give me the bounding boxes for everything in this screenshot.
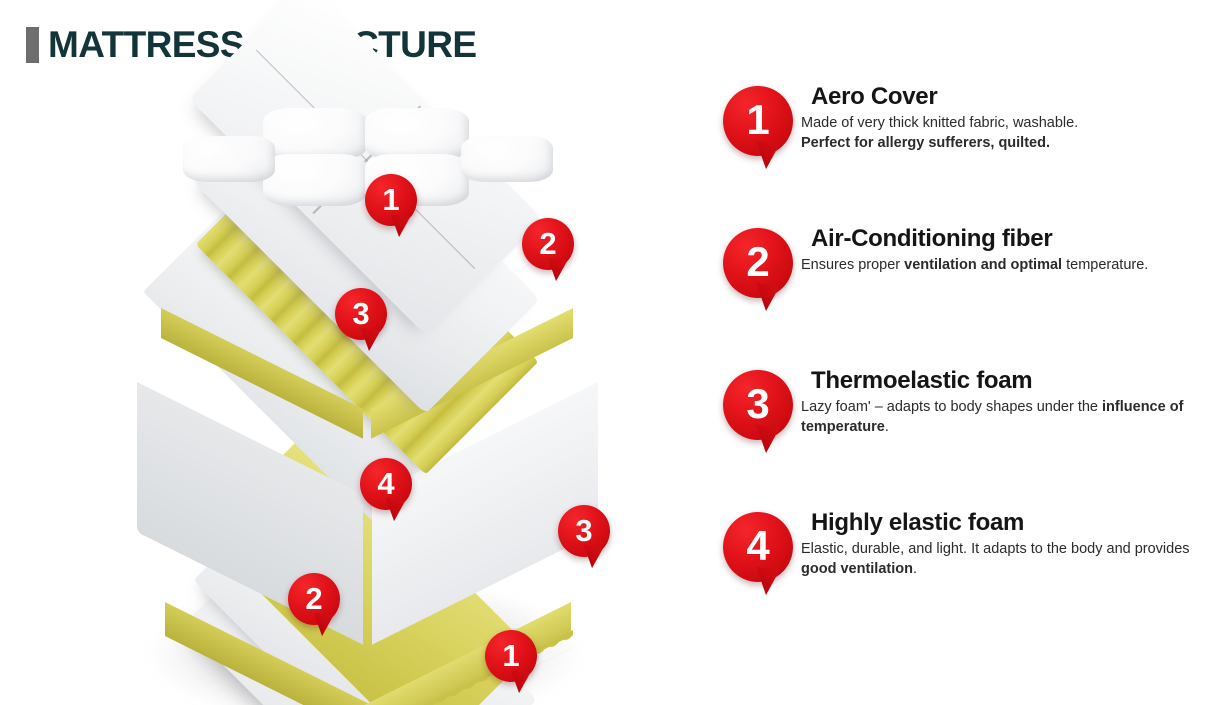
legend-description: Made of very thick knitted fabric, washa… [801, 114, 1195, 152]
pin-number: 4 [360, 458, 412, 510]
legend-item-1[interactable]: 1 Aero Cover Made of very thick knitted … [715, 80, 1195, 172]
pin-number: 2 [288, 573, 340, 625]
illustration-marker-4[interactable]: 4 [360, 458, 412, 510]
legend-description: Lazy foam' – adapts to body shapes under… [801, 398, 1195, 436]
legend-title: Aero Cover [811, 84, 1195, 110]
legend-list: 1 Aero Cover Made of very thick knitted … [715, 80, 1195, 648]
pin-number: 4 [723, 512, 793, 582]
illustration-marker-3-top[interactable]: 3 [335, 288, 387, 340]
legend-title: Air-Conditioning fiber [811, 226, 1195, 252]
illustration-marker-2[interactable]: 2 [522, 218, 574, 270]
quilt-puff [365, 108, 469, 160]
illustration-marker-2-bottom[interactable]: 2 [288, 573, 340, 625]
illustration-stage: 1 2 3 4 3 [95, 78, 635, 683]
legend-item-4[interactable]: 4 Highly elastic foam Elastic, durable, … [715, 506, 1195, 598]
legend-pin-wrap-4: 4 [715, 506, 801, 598]
infographic-page: MATTRESS STRUCTURE [0, 0, 1214, 705]
pin-number: 2 [522, 218, 574, 270]
pin-number: 3 [558, 505, 610, 557]
pin-number: 1 [485, 630, 537, 682]
legend-desc-pre: Elastic, durable, and light. It adapts t… [801, 541, 1190, 557]
legend-desc-post: temperature. [1062, 257, 1148, 273]
legend-item-2[interactable]: 2 Air-Conditioning fiber Ensures proper … [715, 222, 1195, 314]
legend-text-1: Aero Cover Made of very thick knitted fa… [801, 80, 1195, 153]
legend-description: Elastic, durable, and light. It adapts t… [801, 540, 1195, 578]
pin-number: 1 [365, 174, 417, 226]
illustration-marker-1[interactable]: 1 [365, 174, 417, 226]
legend-desc-pre: Lazy foam' – adapts to body shapes under… [801, 399, 1102, 415]
legend-pin-wrap-1: 1 [715, 80, 801, 172]
quilt-puff [461, 136, 553, 182]
legend-description: Ensures proper ventilation and optimal t… [801, 256, 1195, 275]
legend-text-2: Air-Conditioning fiber Ensures proper ve… [801, 222, 1195, 276]
pin-number: 3 [335, 288, 387, 340]
legend-marker-2[interactable]: 2 [723, 228, 793, 298]
legend-pin-wrap-2: 2 [715, 222, 801, 314]
legend-text-3: Thermoelastic foam Lazy foam' – adapts t… [801, 364, 1195, 437]
illustration-marker-1-bottom[interactable]: 1 [485, 630, 537, 682]
title-accent-bar [26, 27, 39, 63]
legend-marker-1[interactable]: 1 [723, 86, 793, 156]
legend-pin-wrap-3: 3 [715, 364, 801, 456]
legend-desc-line1: Made of very thick knitted fabric, washa… [801, 115, 1078, 131]
pin-number: 2 [723, 228, 793, 298]
quilt-puff [263, 154, 367, 206]
pin-number: 3 [723, 370, 793, 440]
legend-marker-4[interactable]: 4 [723, 512, 793, 582]
legend-desc-post: . [885, 419, 889, 435]
legend-desc-bold: ventilation and optimal [904, 257, 1062, 273]
legend-marker-3[interactable]: 3 [723, 370, 793, 440]
pin-number: 1 [723, 86, 793, 156]
quilt-puff [183, 136, 275, 182]
illustration-marker-3-bottom[interactable]: 3 [558, 505, 610, 557]
legend-text-4: Highly elastic foam Elastic, durable, an… [801, 506, 1195, 579]
quilt-puff [263, 108, 367, 160]
mattress-illustration: 1 2 3 4 3 [95, 78, 635, 683]
legend-desc-pre: Ensures proper [801, 257, 904, 273]
legend-title: Highly elastic foam [811, 510, 1195, 536]
legend-desc-line2-bold: Perfect for allergy sufferers, quilted. [801, 135, 1050, 151]
legend-desc-post: . [913, 561, 917, 577]
legend-item-3[interactable]: 3 Thermoelastic foam Lazy foam' – adapts… [715, 364, 1195, 456]
legend-title: Thermoelastic foam [811, 368, 1195, 394]
legend-desc-bold: good ventilation [801, 561, 913, 577]
